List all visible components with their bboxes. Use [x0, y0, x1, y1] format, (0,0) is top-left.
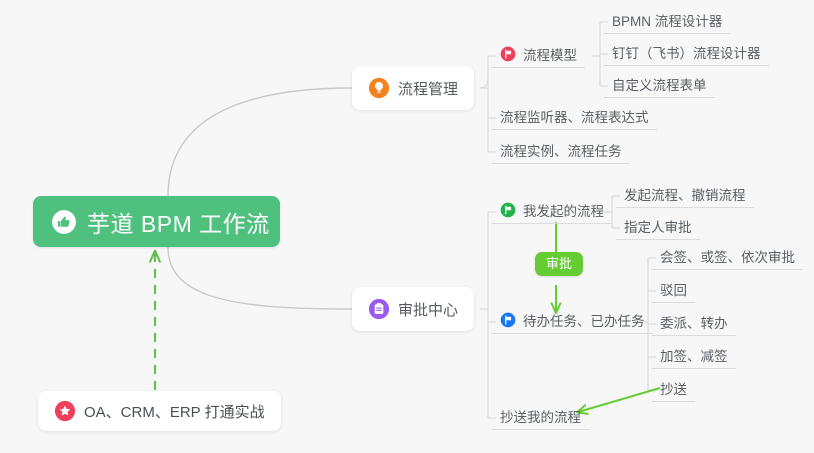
node-delegate-transfer[interactable]: 委派、转办	[652, 312, 736, 336]
mindmap-canvas: 芋道 BPM 工作流 流程管理 流程模型 BPMN 流程设计器 钉钉（飞书）流程…	[0, 0, 814, 453]
flag-icon	[500, 202, 516, 218]
branch-node-process-management[interactable]: 流程管理	[352, 66, 474, 110]
node-label-start-cancel: 发起流程、撤销流程	[624, 184, 746, 204]
node-label-listener-expression: 流程监听器、流程表达式	[500, 106, 649, 126]
node-my-initiated[interactable]: 我发起的流程	[492, 200, 612, 224]
flag-icon	[500, 46, 516, 62]
node-add-remove-sign[interactable]: 加签、减签	[652, 345, 736, 369]
node-process-model[interactable]: 流程模型	[492, 44, 585, 68]
node-label-dingtalk-feishu-designer: 钉钉（飞书）流程设计器	[612, 42, 761, 62]
root-node[interactable]: 芋道 BPM 工作流	[33, 196, 280, 247]
edge-root-to-approval-center	[168, 247, 352, 309]
node-label-custom-process-form: 自定义流程表单	[612, 74, 707, 94]
node-label-reject: 驳回	[660, 279, 687, 299]
branch-label-approval-center: 审批中心	[398, 299, 458, 320]
node-dingtalk-feishu-designer[interactable]: 钉钉（飞书）流程设计器	[604, 42, 769, 66]
node-label-add-remove-sign: 加签、减签	[660, 345, 728, 365]
branch-node-approval-center[interactable]: 审批中心	[352, 287, 474, 331]
node-label-bpmn-designer: BPMN 流程设计器	[612, 10, 722, 30]
node-label-instance-task: 流程实例、流程任务	[500, 140, 622, 160]
approval-annotation-label: 审批	[546, 256, 572, 271]
node-assignee-approval[interactable]: 指定人审批	[616, 216, 700, 240]
clipboard-icon	[368, 298, 390, 320]
node-label-cc-to-me: 抄送我的流程	[500, 406, 581, 426]
flag-icon	[500, 312, 516, 328]
node-custom-process-form[interactable]: 自定义流程表单	[604, 74, 715, 98]
branch-label-process-management: 流程管理	[398, 78, 458, 99]
root-label: 芋道 BPM 工作流	[87, 205, 270, 239]
approval-annotation-pill: 审批	[535, 252, 583, 276]
node-counter-or-sequential[interactable]: 会签、或签、依次审批	[652, 246, 803, 270]
node-start-cancel[interactable]: 发起流程、撤销流程	[616, 184, 754, 208]
node-label-delegate-transfer: 委派、转办	[660, 312, 728, 332]
edge-cc-to-cc-to-me	[578, 388, 660, 412]
node-label-cc: 抄送	[660, 378, 687, 398]
node-cc-to-me[interactable]: 抄送我的流程	[492, 406, 589, 430]
lightbulb-icon	[368, 77, 390, 99]
node-bpmn-designer[interactable]: BPMN 流程设计器	[604, 10, 730, 34]
node-todo-done[interactable]: 待办任务、已办任务	[492, 310, 653, 334]
node-reject[interactable]: 驳回	[652, 279, 695, 303]
star-icon	[54, 400, 76, 422]
edge-process-management-spine-curve	[480, 78, 488, 88]
node-label-my-initiated: 我发起的流程	[523, 200, 604, 220]
edge-process-management-spine	[480, 56, 496, 152]
floating-label-oa-crm-erp: OA、CRM、ERP 打通实战	[84, 401, 265, 422]
node-listener-expression[interactable]: 流程监听器、流程表达式	[492, 106, 657, 130]
node-cc[interactable]: 抄送	[652, 378, 695, 402]
node-label-todo-done: 待办任务、已办任务	[523, 310, 645, 330]
thumbs-up-icon	[51, 209, 77, 235]
node-label-counter-or-sequential: 会签、或签、依次审批	[660, 246, 795, 266]
node-label-process-model: 流程模型	[523, 44, 577, 64]
floating-node-oa-crm-erp[interactable]: OA、CRM、ERP 打通实战	[38, 391, 281, 431]
node-label-assignee-approval: 指定人审批	[624, 216, 692, 236]
node-instance-task[interactable]: 流程实例、流程任务	[492, 140, 630, 164]
edge-root-to-process-management	[168, 88, 352, 196]
